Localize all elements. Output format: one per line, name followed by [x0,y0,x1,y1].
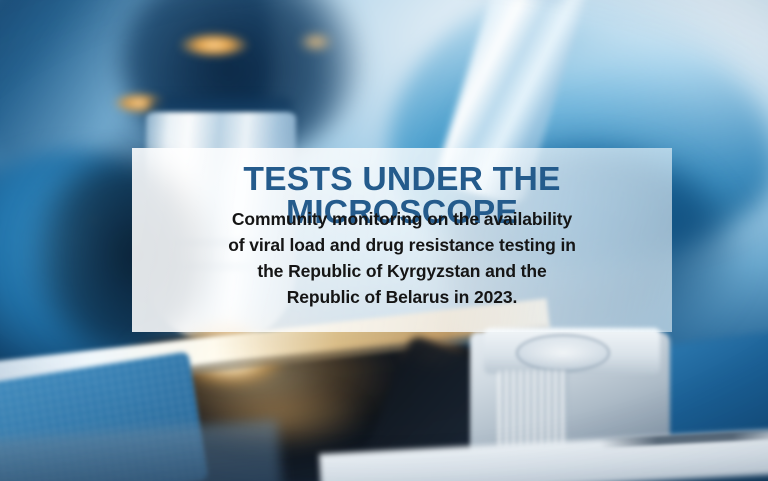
cover-image: TESTS UNDER THE MICROSCOPE Community mon… [0,0,768,481]
cover-subtitle-line-3: the Republic of Kyrgyzstan and the [156,258,648,284]
cover-subtitle-line-1: Community monitoring on the availability [156,206,648,232]
text-overlay-panel: TESTS UNDER THE MICROSCOPE Community mon… [132,148,672,332]
cover-subtitle-line-2: of viral load and drug resistance testin… [156,232,648,258]
cover-subtitle: Community monitoring on the availability… [156,206,648,310]
cover-subtitle-line-4: Republic of Belarus in 2023. [156,284,648,310]
